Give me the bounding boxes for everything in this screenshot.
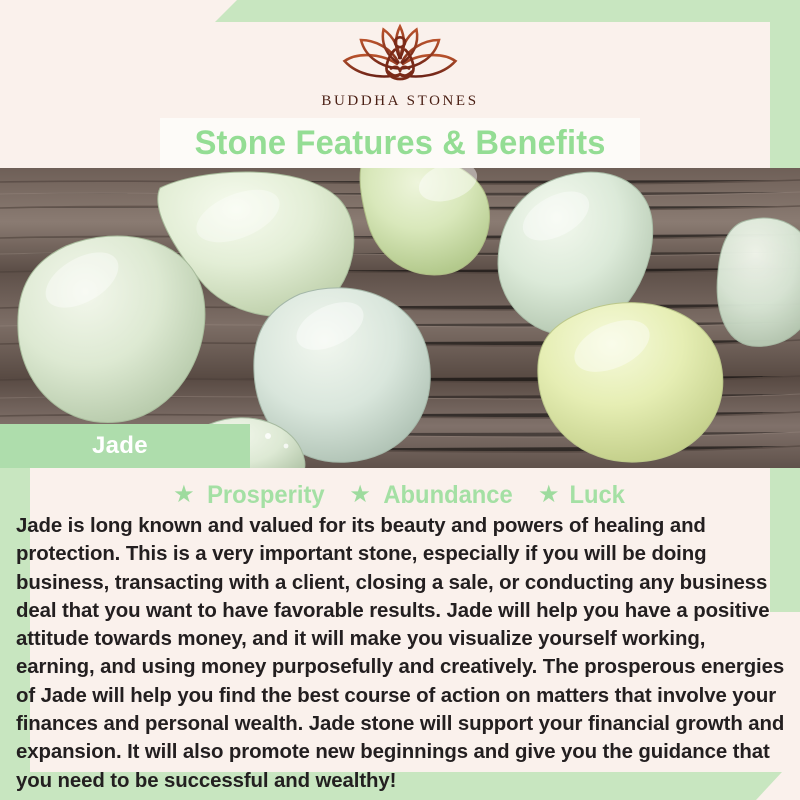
lotus-meditation-icon (325, 19, 475, 91)
stone-infographic: BUDDHA STONES Stone Features & Benefits (0, 0, 800, 800)
star-icon: ★ (538, 483, 560, 507)
brand-name: BUDDHA STONES (321, 93, 478, 110)
benefit-label: Abundance (383, 481, 512, 510)
brand-logo: BUDDHA STONES (321, 19, 478, 110)
stone-description: Jade is long known and valued for its be… (16, 512, 788, 795)
benefit-item: ★ Prosperity (173, 481, 327, 510)
stone-photo (0, 168, 800, 468)
stone-name-band: Jade (0, 424, 250, 468)
stone-name: Jade (92, 432, 148, 460)
star-icon: ★ (173, 483, 195, 507)
benefit-label: Luck (570, 481, 625, 510)
title-band: Stone Features & Benefits (160, 118, 640, 168)
brand-header: BUDDHA STONES (0, 0, 800, 120)
star-icon: ★ (349, 483, 371, 507)
benefit-label: Prosperity (207, 481, 324, 510)
benefit-item: ★ Luck (538, 481, 627, 510)
benefit-item: ★ Abundance (349, 481, 516, 510)
page-title: Stone Features & Benefits (194, 124, 605, 163)
benefits-row: ★ Prosperity ★ Abundance ★ Luck (0, 478, 800, 512)
